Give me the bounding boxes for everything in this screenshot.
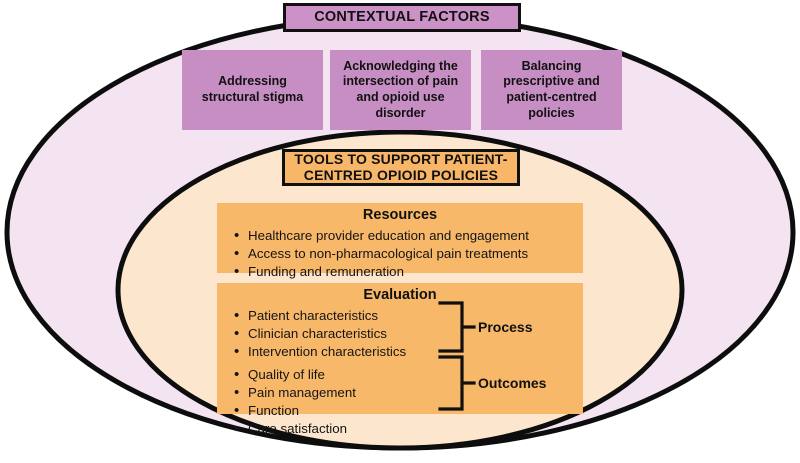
contextual-factor-box-2: Acknowledging the intersection of pain a… [330, 50, 471, 130]
bracket-label-process: Process [478, 319, 532, 335]
list-item: Funding and remuneration [231, 263, 583, 281]
bullet-text: Funding and remuneration [248, 264, 404, 279]
banner-tools-line-1: TOOLS TO SUPPORT PATIENT- [294, 152, 507, 168]
banner-contextual-factors-label: CONTEXTUAL FACTORS [314, 9, 489, 25]
bullet-text: Clinician characteristics [248, 326, 387, 341]
panel-resources-title: Resources [217, 208, 583, 224]
bullet-text: Patient characteristics [248, 308, 378, 323]
banner-contextual-factors: CONTEXTUAL FACTORS [283, 3, 521, 32]
contextual-factor-label-3: Balancing prescriptive and patient-centr… [487, 59, 616, 122]
list-item: Care satisfaction [231, 420, 583, 438]
list-item: Access to non-pharmacological pain treat… [231, 245, 583, 263]
banner-tools-line-2: CENTRED OPIOID POLICIES [304, 168, 498, 184]
bullet-text: Pain management [248, 385, 356, 400]
list-item: Intervention characteristics [231, 343, 583, 361]
bullet-text: Care satisfaction [248, 421, 347, 436]
panel-evaluation: Evaluation Patient characteristics Clini… [217, 283, 583, 414]
bullet-text: Function [248, 403, 299, 418]
bullet-text: Quality of life [248, 367, 325, 382]
panel-evaluation-title: Evaluation [217, 288, 583, 304]
list-item: Healthcare provider education and engage… [231, 227, 583, 245]
bracket-label-outcomes: Outcomes [478, 375, 546, 391]
bullet-text: Healthcare provider education and engage… [248, 228, 529, 243]
bullet-text: Intervention characteristics [248, 344, 406, 359]
banner-tools-to-support: TOOLS TO SUPPORT PATIENT- CENTRED OPIOID… [282, 149, 520, 186]
diagram-canvas: CONTEXTUAL FACTORS Addressing structural… [0, 0, 800, 463]
contextual-factor-box-1: Addressing structural stigma [182, 50, 323, 130]
panel-resources-bullet-list: Healthcare provider education and engage… [217, 227, 583, 281]
bullet-text: Access to non-pharmacological pain treat… [248, 246, 528, 261]
panel-resources: Resources Healthcare provider education … [217, 203, 583, 273]
contextual-factor-box-3: Balancing prescriptive and patient-centr… [481, 50, 622, 130]
list-item: Function [231, 402, 583, 420]
contextual-factor-label-1: Addressing structural stigma [188, 74, 317, 106]
contextual-factor-label-2: Acknowledging the intersection of pain a… [336, 59, 465, 122]
